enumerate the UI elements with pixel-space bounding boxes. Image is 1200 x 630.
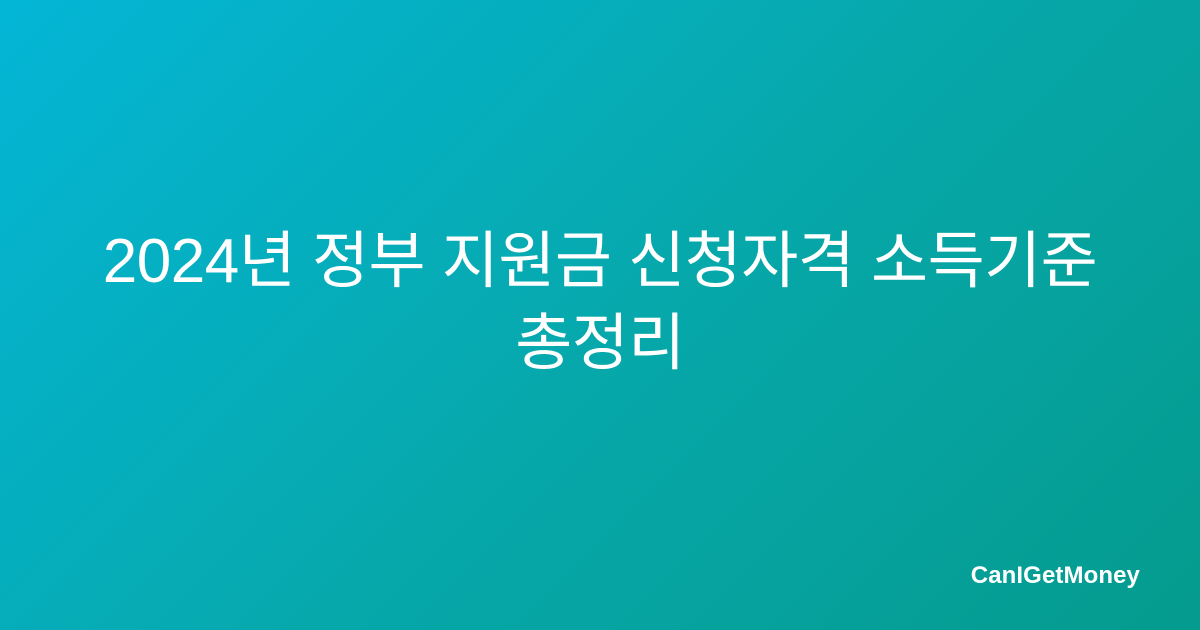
headline-container: 2024년 정부 지원금 신청자격 소득기준 총정리 [0,0,1200,630]
social-card: 2024년 정부 지원금 신청자격 소득기준 총정리 CanIGetMoney [0,0,1200,630]
site-branding: CanIGetMoney [971,564,1140,588]
page-title: 2024년 정부 지원금 신청자격 소득기준 총정리 [100,221,1100,385]
